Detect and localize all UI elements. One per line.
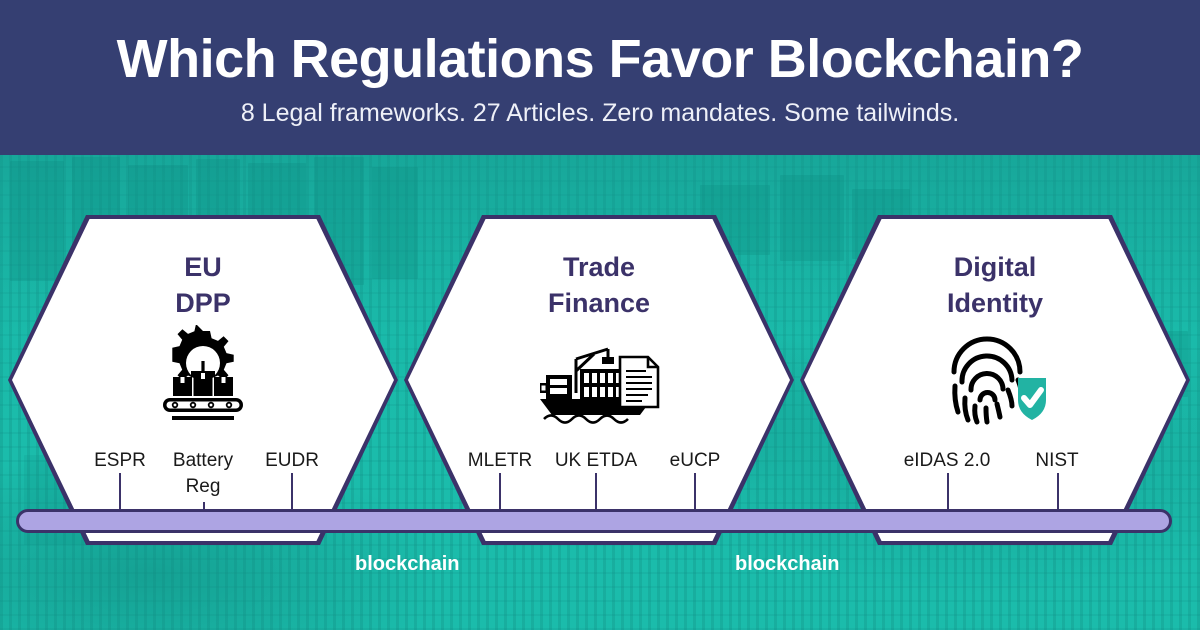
hexagon-eu-dpp-title-line1: EU xyxy=(8,250,398,286)
cargo-ship-document-icon xyxy=(404,333,794,428)
hexagon-eu-dpp-title-line2: DPP xyxy=(8,286,398,322)
hexagon-trade-finance-title-line1: Trade xyxy=(404,250,794,286)
infographic-canvas: Which Regulations Favor Blockchain? 8 Le… xyxy=(0,0,1200,630)
node-label-mletr[interactable]: MLETR xyxy=(455,448,545,474)
page-subtitle: 8 Legal frameworks. 27 Articles. Zero ma… xyxy=(241,100,959,128)
node-label-battery-reg[interactable]: Battery Reg xyxy=(160,448,246,499)
node-label-eucp[interactable]: eUCP xyxy=(650,448,740,474)
factory-conveyor-gear-icon xyxy=(8,325,398,425)
diagram-stage: EU DPP xyxy=(0,155,1200,630)
node-label-espr[interactable]: ESPR xyxy=(75,448,165,474)
node-label-eudr[interactable]: EUDR xyxy=(247,448,337,474)
node-label-nist[interactable]: NIST xyxy=(1012,448,1102,474)
node-label-eidas-2-0[interactable]: eIDAS 2.0 xyxy=(887,448,1007,474)
hexagon-eu-dpp-title: EU DPP xyxy=(8,250,398,321)
rail-caption-right: blockchain xyxy=(735,553,839,576)
fingerprint-shield-check-icon xyxy=(800,327,1190,427)
hexagon-trade-finance-title: Trade Finance xyxy=(404,250,794,321)
rail-caption-left: blockchain xyxy=(355,553,459,576)
blockchain-rail[interactable] xyxy=(16,509,1172,533)
hexagon-digital-identity-title: Digital Identity xyxy=(800,250,1190,321)
page-title: Which Regulations Favor Blockchain? xyxy=(117,31,1084,88)
header-banner: Which Regulations Favor Blockchain? 8 Le… xyxy=(0,0,1200,155)
hexagon-trade-finance-title-line2: Finance xyxy=(404,286,794,322)
hexagon-digital-identity-title-line1: Digital xyxy=(800,250,1190,286)
hexagon-digital-identity-title-line2: Identity xyxy=(800,286,1190,322)
node-label-uk-etda[interactable]: UK ETDA xyxy=(546,448,646,474)
